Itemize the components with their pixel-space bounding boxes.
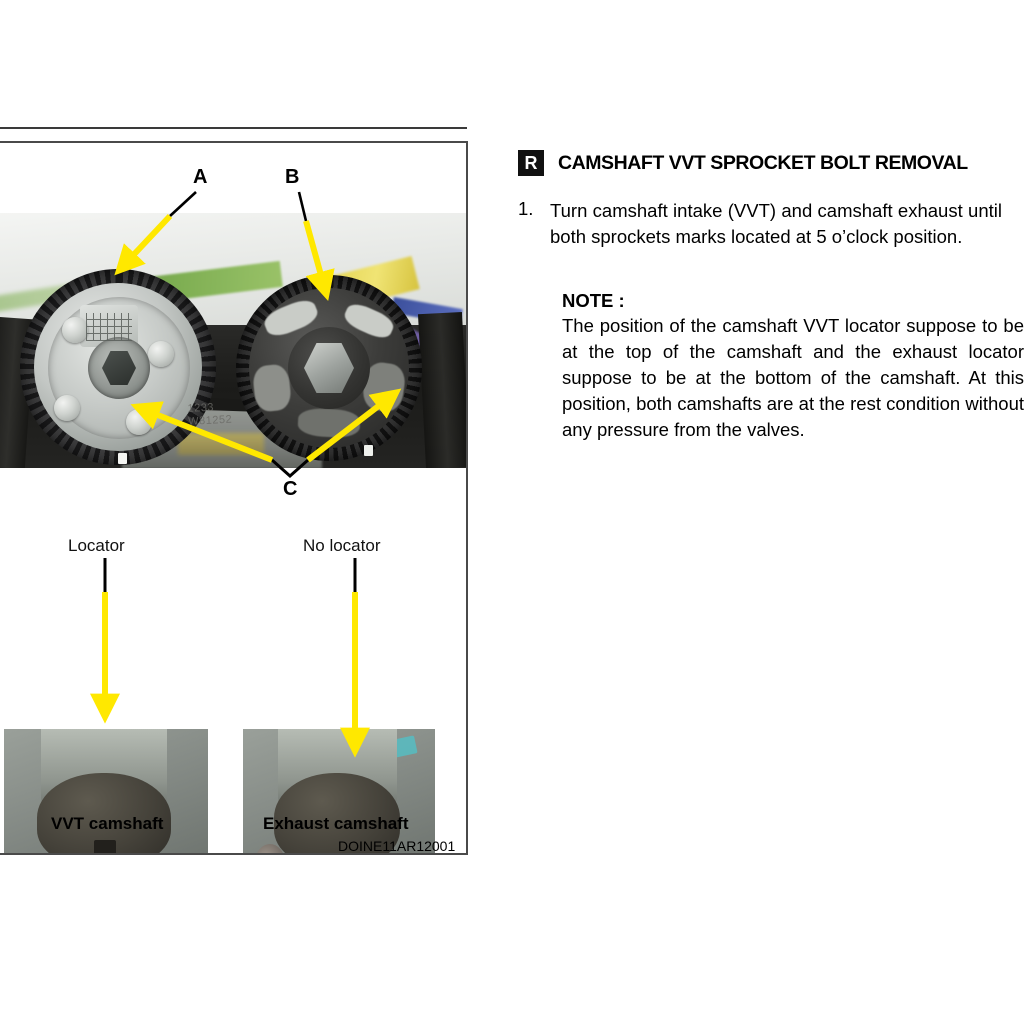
instructions-column: R CAMSHAFT VVT SPROCKET BOLT REMOVAL 1. … [512, 0, 1024, 1024]
callout-label-locator: Locator [68, 536, 125, 556]
engine-block-highlight [178, 433, 264, 455]
camshaft-side-bolt [151, 853, 182, 855]
camshaft-locator-notch [94, 840, 116, 855]
section-heading: R CAMSHAFT VVT SPROCKET BOLT REMOVAL [518, 150, 968, 176]
exhaust-sprocket-alignment-mark [364, 445, 373, 456]
cylinder-head-cast-marking: 1233 W81252 [187, 399, 260, 433]
vvt-sprocket-alignment-mark [118, 453, 127, 464]
section-heading-text: CAMSHAFT VVT SPROCKET BOLT REMOVAL [558, 152, 968, 175]
sprocket-overview-photo: 1233 W81252 [0, 213, 466, 468]
vvt-camshaft-detail-photo [4, 729, 208, 855]
caption-exhaust-camshaft: Exhaust camshaft [263, 814, 409, 834]
note-block: NOTE : The position of the camshaft VVT … [562, 290, 1024, 443]
figure-column: 1233 W81252 [0, 0, 470, 1024]
caption-vvt-camshaft: VVT camshaft [51, 814, 163, 834]
vvt-hub-bolt [126, 409, 152, 435]
callout-label-no-locator: No locator [303, 536, 380, 556]
procedure-step-1: 1. Turn camshaft intake (VVT) and camsha… [518, 198, 1024, 250]
vvt-hub-bolt [54, 395, 80, 421]
vvt-hub-bolt [148, 341, 174, 367]
note-label: NOTE : [562, 290, 1024, 312]
callout-label-b: B [285, 166, 299, 189]
removal-badge-icon: R [518, 150, 544, 176]
step-number: 1. [518, 198, 540, 250]
vvt-hub-bolt [62, 317, 88, 343]
step-text: Turn camshaft intake (VVT) and camshaft … [550, 198, 1002, 250]
callout-label-a: A [193, 166, 207, 189]
figure-box: 1233 W81252 [0, 141, 468, 855]
callout-label-c: C [283, 478, 297, 501]
timing-belt-right-run [418, 312, 466, 468]
vvt-timing-mark-grid [86, 313, 132, 341]
exhaust-camshaft-detail-photo [243, 729, 435, 855]
section-divider-rule [0, 127, 467, 129]
figure-reference-code: DOINE11AR12001 [338, 838, 455, 854]
note-text: The position of the camshaft VVT locator… [562, 313, 1024, 443]
